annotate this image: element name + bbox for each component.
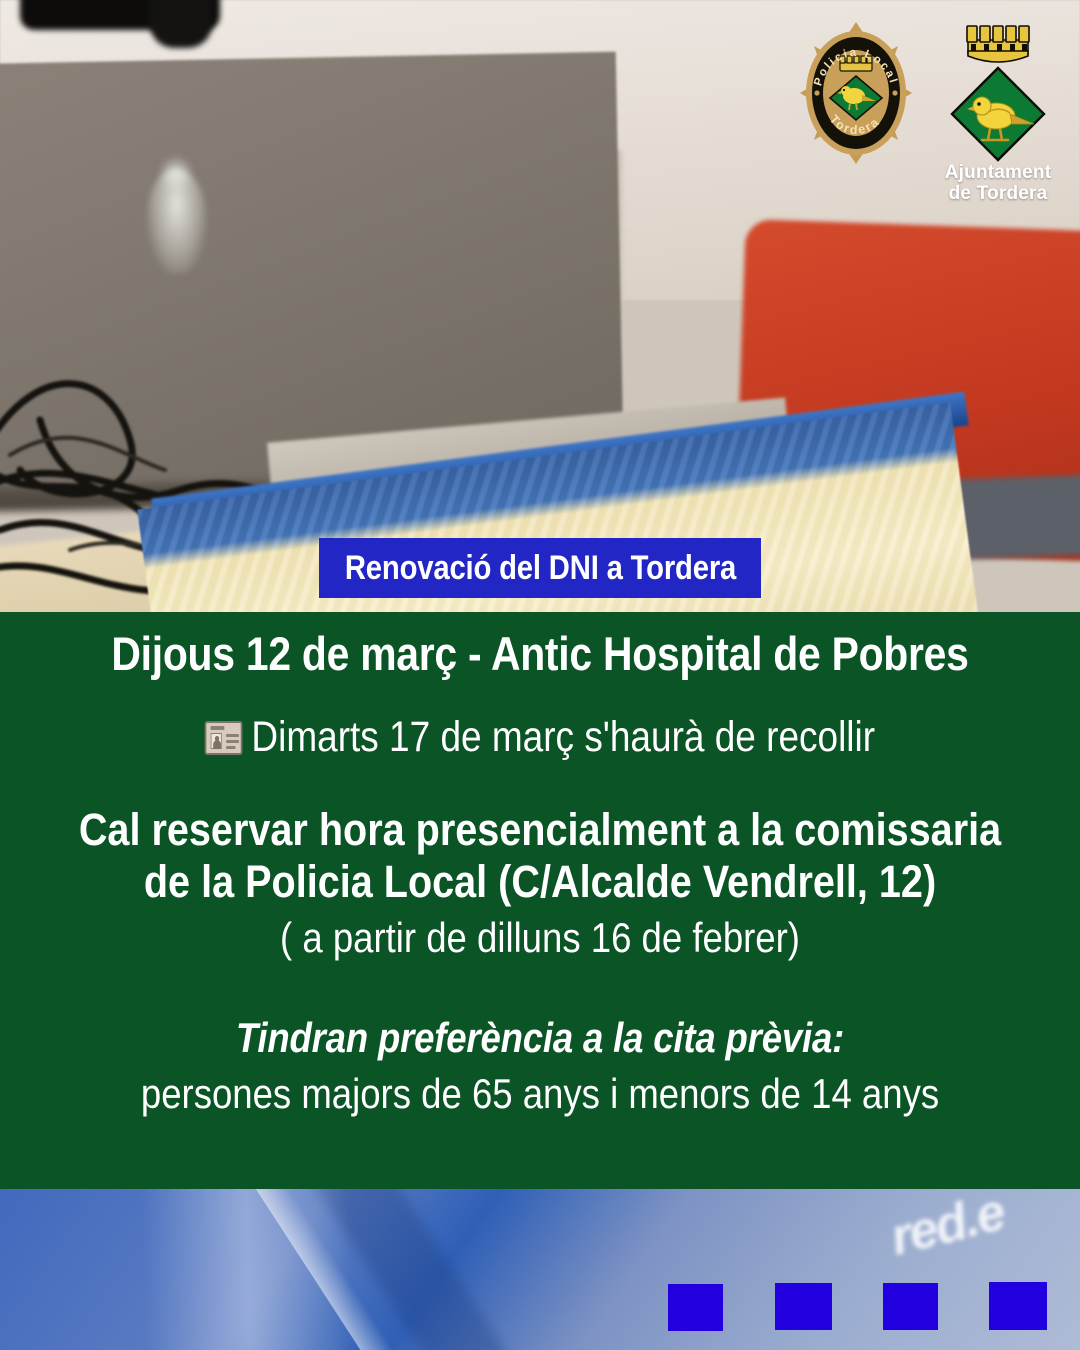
top-photo-office-laptop: Policia Local Tordera — [0, 0, 1080, 613]
redaction-block — [989, 1282, 1047, 1330]
pickup-text: Dimarts 17 de març s'haurà de recollir — [251, 713, 875, 762]
redaction-block — [775, 1283, 832, 1330]
title-banner: Renovació del DNI a Tordera — [319, 538, 761, 598]
info-panel: Dijous 12 de març - Antic Hospital de Po… — [0, 612, 1080, 1189]
ajuntament-label-line1: Ajuntament — [945, 162, 1052, 183]
bottom-photo-blue-folder: red.e — [0, 1189, 1080, 1350]
booking-instructions: Cal reservar hora presencialment a la co… — [65, 804, 1015, 908]
police-crest-emboss-icon — [146, 168, 208, 275]
poster: Policia Local Tordera — [0, 0, 1080, 1350]
booking-line-2: de la Policia Local (C/Alcalde Vendrell,… — [65, 856, 1015, 908]
tordera-crest-icon — [938, 18, 1058, 168]
headline-date-location: Dijous 12 de març - Antic Hospital de Po… — [70, 626, 1010, 681]
ajuntament-label-line2: de Tordera — [949, 183, 1048, 204]
dark-bracket-object-secondary — [150, 0, 212, 48]
redaction-block — [668, 1284, 723, 1331]
title-banner-text: Renovació del DNI a Tordera — [344, 549, 735, 588]
id-card-icon — [205, 721, 243, 755]
ajuntament-label: Ajuntament de Tordera — [945, 162, 1052, 205]
booking-start-note: ( a partir de dilluns 16 de febrer) — [70, 914, 1010, 962]
priority-heading: Tindran preferència a la cita prèvia: — [70, 1014, 1010, 1062]
priority-detail: persones majors de 65 anys i menors de 1… — [70, 1070, 1010, 1118]
ajuntament-de-tordera-logo: Ajuntament de Tordera — [938, 18, 1058, 205]
logo-group: Policia Local Tordera — [796, 18, 1058, 205]
redaction-group — [0, 1189, 1080, 1350]
booking-line-1: Cal reservar hora presencialment a la co… — [65, 804, 1015, 856]
redaction-block — [883, 1283, 938, 1330]
pickup-line: Dimarts 17 de març s'haurà de recollir — [76, 713, 1005, 762]
police-local-tordera-badge-icon: Policia Local Tordera — [796, 18, 916, 168]
